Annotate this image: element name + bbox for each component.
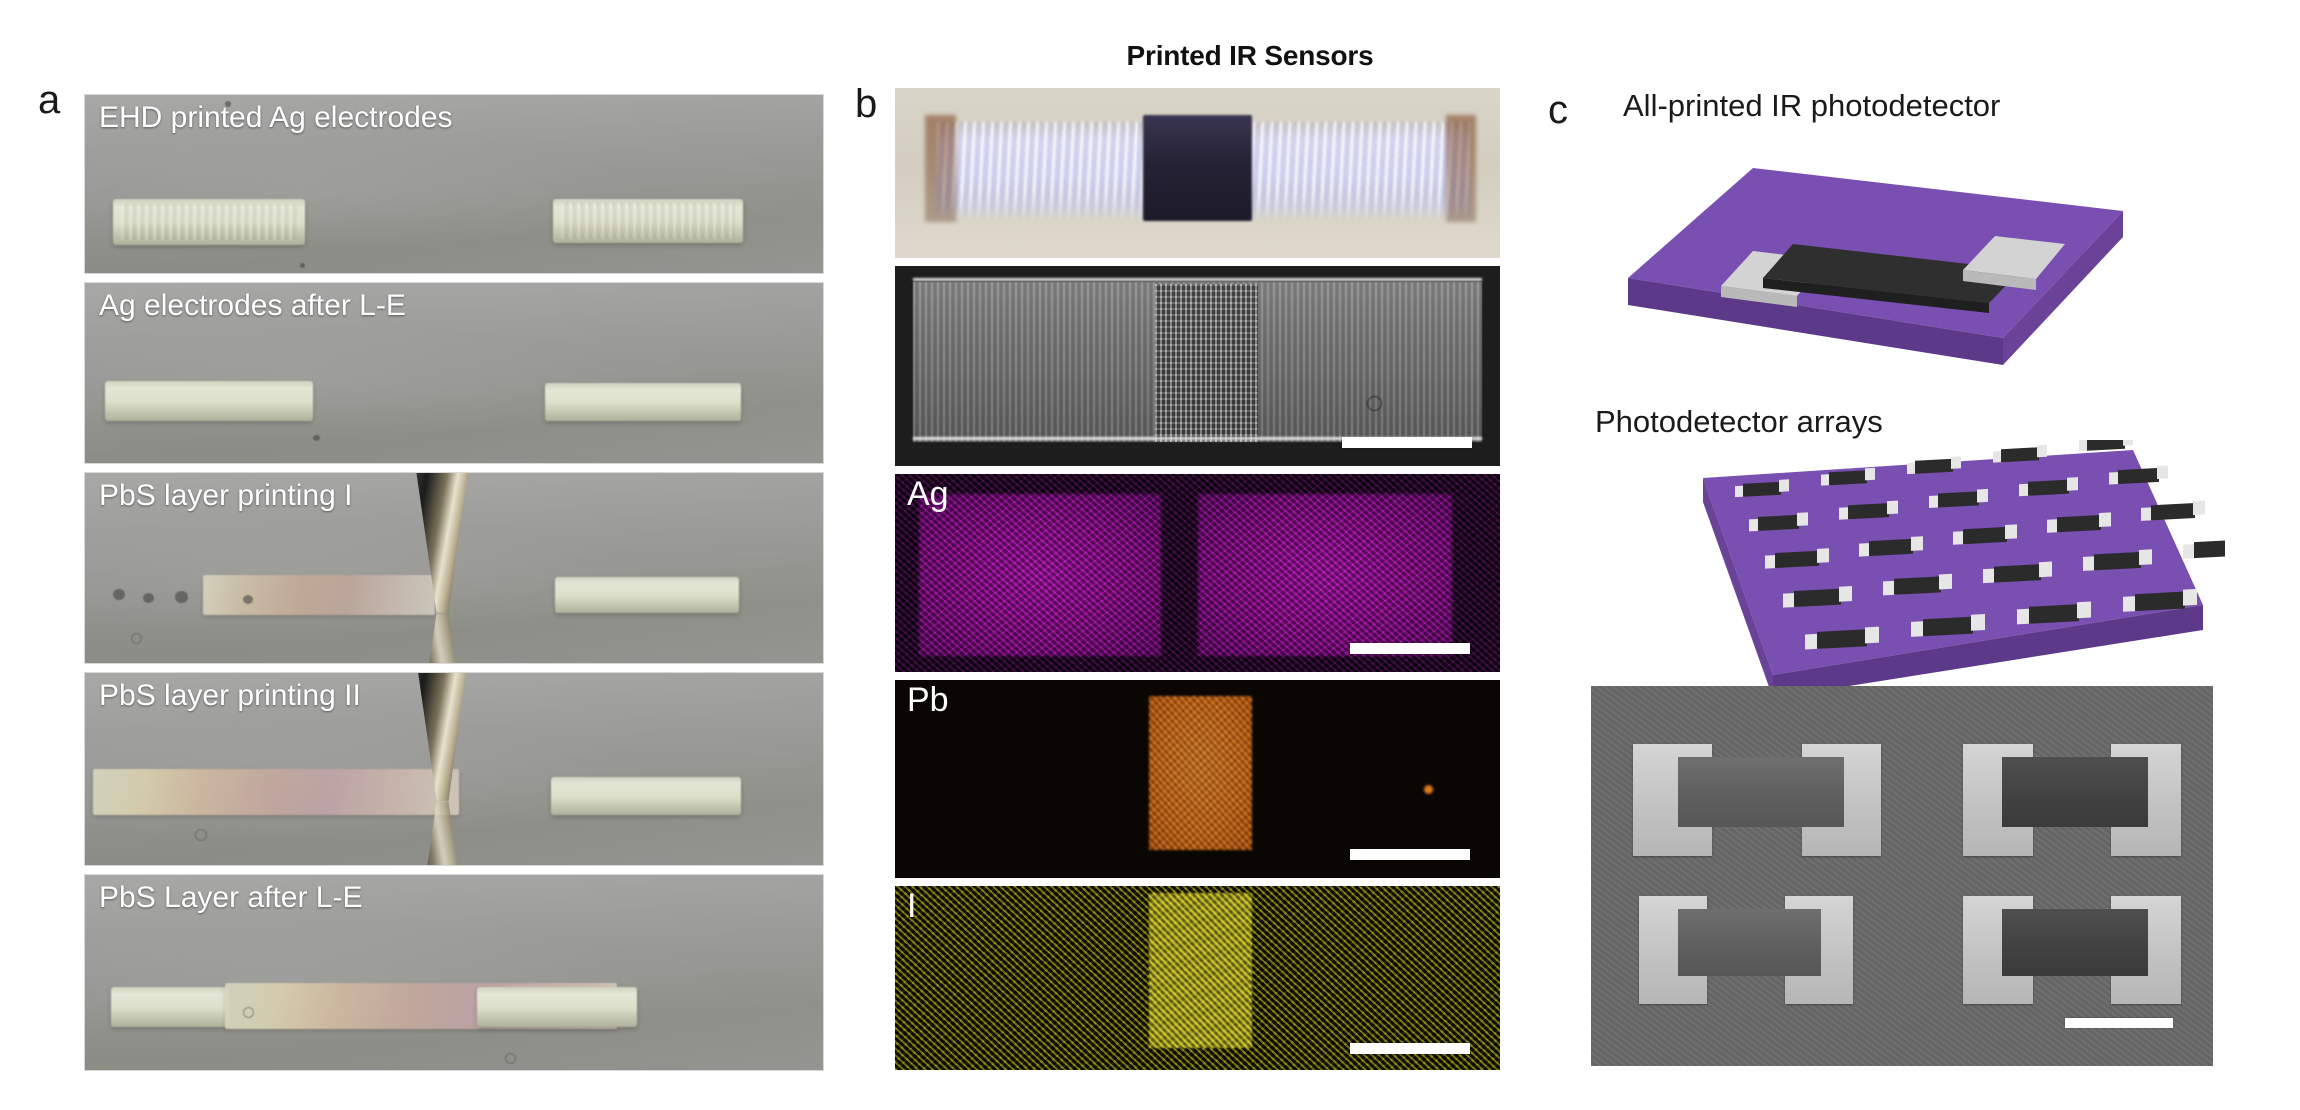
ag-electrode-right (545, 383, 741, 421)
panel-a-frame-2: Ag electrodes after L-E (85, 283, 823, 463)
array-device (1993, 445, 2047, 463)
array-device (1907, 456, 1961, 474)
droplet-speck (243, 595, 253, 604)
scale-bar (2065, 1018, 2173, 1028)
droplet-ring (505, 1053, 516, 1064)
droplet-speck (143, 593, 154, 603)
panel-a-frame-4-label: PbS layer printing II (99, 679, 361, 713)
droplet-ring (195, 829, 207, 841)
droplet-ring (243, 1007, 254, 1018)
panel-a-frame-3: PbS layer printing I (85, 473, 823, 663)
sem-device-top-left (1633, 744, 1881, 856)
panel-a-frame-5: PbS Layer after L-E (85, 875, 823, 1070)
pbs-film-partial (203, 575, 435, 615)
sem-device-bottom-left (1639, 896, 1853, 1004)
panel-c-sem-device-array (1591, 686, 2213, 1066)
scale-bar (1350, 643, 1470, 654)
panel-a-frame-3-label: PbS layer printing I (99, 479, 352, 513)
scale-bar (1350, 1043, 1470, 1054)
pbs-channel (2002, 909, 2148, 976)
ag-electrode-right (555, 577, 739, 613)
panel-b-optical-cross-section (895, 88, 1500, 258)
ag-electrode-right (477, 987, 637, 1027)
panel-b-eds-label-ag: Ag (907, 476, 949, 513)
panel-a-frame-2-label: Ag electrodes after L-E (99, 289, 406, 323)
panel-b-sem-cross-section (895, 266, 1500, 466)
panel-a-process-micrographs: EHD printed Ag electrodes Ag electrodes … (85, 95, 823, 1070)
scale-bar (1350, 849, 1470, 860)
pb-stray-signal (1424, 785, 1433, 794)
panel-c-title-arrays: Photodetector arrays (1595, 404, 1883, 440)
panel-a-frame-4: PbS layer printing II (85, 673, 823, 865)
pbs-channel (2002, 757, 2148, 826)
ag-electrode-right (551, 777, 741, 815)
ag-electrode-left (105, 381, 313, 421)
pbs-channel (1678, 757, 1844, 826)
photodetector-array-render (1585, 440, 2225, 690)
panel-b-cross-section-eds: Ag Pb I (895, 88, 1500, 1070)
pbs-film-extended (93, 769, 459, 815)
panel-b-eds-label-i: I (907, 888, 916, 925)
pbs-layer-cross-section (1143, 115, 1252, 220)
ag-electrode-left (111, 987, 229, 1027)
ag-electrode-left (113, 199, 305, 245)
ag-electrode-right (553, 199, 743, 243)
panel-b-eds-map-pb: Pb (895, 680, 1500, 878)
panel-c-title-single-detector: All-printed IR photodetector (1623, 88, 2000, 124)
droplet-speck (113, 589, 125, 600)
scale-bar (1342, 437, 1472, 448)
substrate-speck (300, 263, 305, 268)
panel-b-eds-map-i: I (895, 886, 1500, 1070)
panel-c-device-renders: All-printed IR photodetector Photodetect… (1585, 88, 2225, 1070)
sem-device-bottom-right (1963, 896, 2181, 1004)
array-device (2079, 440, 2133, 451)
pb-signal-region (1149, 696, 1252, 850)
edge-brown-right (1446, 115, 1476, 222)
sem-top-edge-highlight (913, 278, 1482, 281)
panel-a-frame-1-label: EHD printed Ag electrodes (99, 101, 453, 135)
sem-device-top-right (1963, 744, 2181, 856)
panel-letter-a: a (38, 78, 60, 123)
panel-b-eds-map-ag: Ag (895, 474, 1500, 672)
figure-title: Printed IR Sensors (990, 40, 1510, 72)
droplet-ring (131, 633, 142, 644)
panel-b-eds-label-pb: Pb (907, 682, 949, 719)
edge-brown-left (925, 115, 955, 222)
panel-letter-c: c (1548, 88, 1568, 133)
sem-pore (1367, 396, 1382, 411)
sem-pbs-region (1155, 284, 1258, 442)
single-photodetector-render (1603, 133, 2203, 388)
droplet-speck (175, 591, 188, 603)
panel-a-frame-5-label: PbS Layer after L-E (99, 881, 362, 915)
pbs-channel (1678, 909, 1821, 976)
array-device (2183, 540, 2225, 559)
substrate-speck (313, 435, 320, 441)
sem-grain-texture (1591, 686, 2213, 1066)
panel-a-frame-1: EHD printed Ag electrodes (85, 95, 823, 273)
panel-letter-b: b (855, 82, 877, 127)
iodine-signal-region (1149, 893, 1252, 1048)
